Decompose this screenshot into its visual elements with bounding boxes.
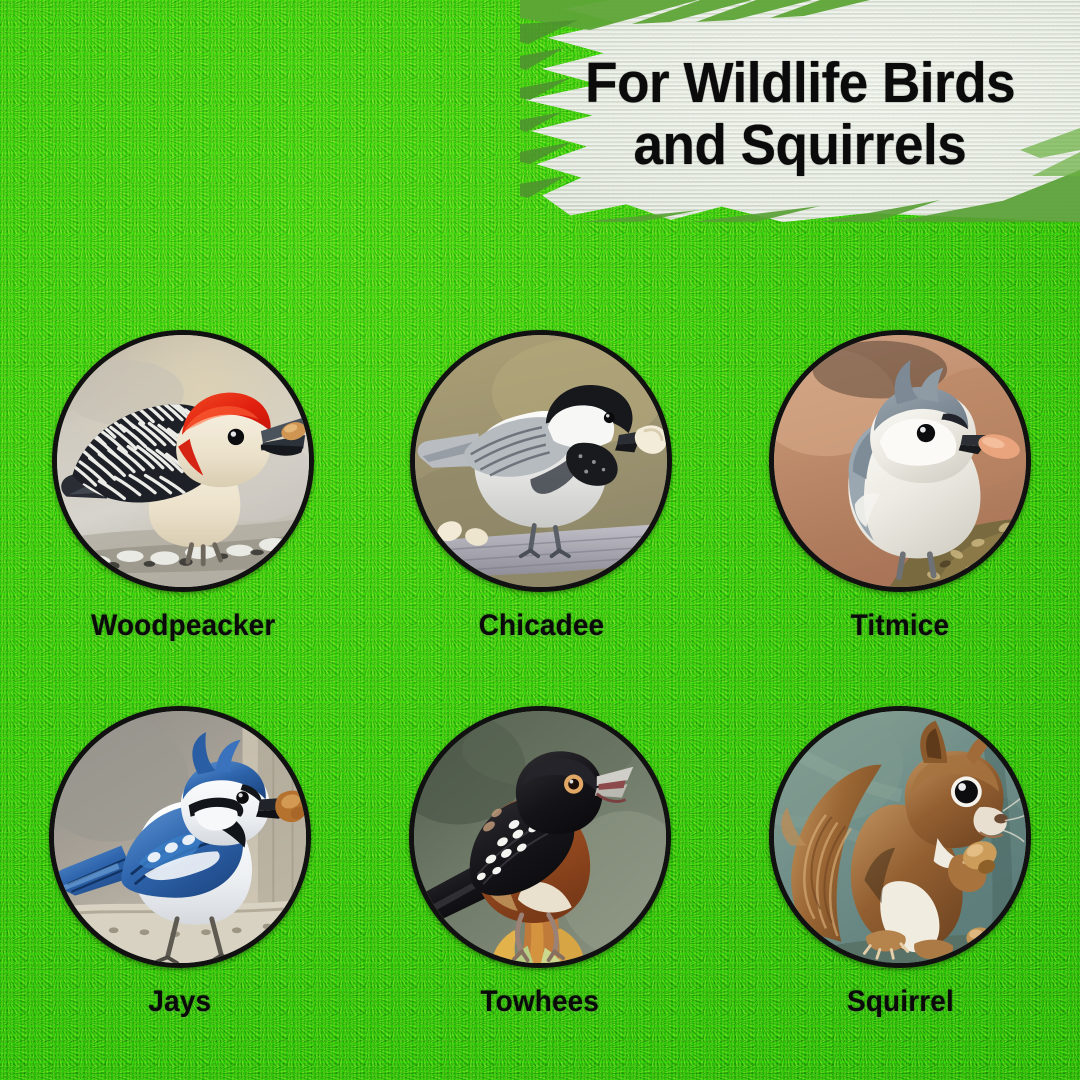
blue-jay-photo bbox=[54, 711, 306, 963]
animal-label-woodpeacker: Woodpeacker bbox=[91, 609, 275, 643]
animal-label-jays: Jays bbox=[149, 985, 212, 1019]
animal-cell-towhees: Towhees bbox=[360, 690, 720, 1050]
banner-title-line-1: For Wildlife Birds bbox=[585, 53, 1015, 113]
animal-label-towhees: Towhees bbox=[481, 985, 600, 1019]
black-capped-chickadee-photo bbox=[415, 335, 667, 587]
animal-label-chicadee: Chicadee bbox=[478, 609, 604, 643]
animal-cell-titmice: Titmice bbox=[720, 330, 1080, 690]
animal-grid: Woodpeacker bbox=[0, 330, 1080, 1050]
animal-cell-woodpeacker: Woodpeacker bbox=[0, 330, 360, 690]
banner-title-block: For Wildlife Birds and Squirrels bbox=[520, 0, 1080, 222]
animal-label-squirrel: Squirrel bbox=[847, 985, 954, 1019]
red-bellied-woodpecker-photo bbox=[57, 335, 309, 587]
poster-canvas: For Wildlife Birds and Squirrels bbox=[0, 0, 1080, 1080]
banner-title-line-2: and Squirrels bbox=[634, 115, 967, 175]
tufted-titmouse-photo bbox=[774, 335, 1026, 587]
red-squirrel-photo bbox=[774, 711, 1026, 963]
photo-circle-squirrel bbox=[769, 706, 1031, 968]
animal-cell-chicadee: Chicadee bbox=[360, 330, 720, 690]
spotted-towhee-photo bbox=[414, 711, 666, 963]
photo-circle-woodpeacker bbox=[52, 330, 314, 592]
photo-circle-titmice bbox=[769, 330, 1031, 592]
photo-circle-chicadee bbox=[410, 330, 672, 592]
animal-cell-jays: Jays bbox=[0, 690, 360, 1050]
photo-circle-jays bbox=[49, 706, 311, 968]
header-banner: For Wildlife Birds and Squirrels bbox=[520, 0, 1080, 222]
photo-circle-towhees bbox=[409, 706, 671, 968]
animal-label-titmice: Titmice bbox=[851, 609, 949, 643]
animal-cell-squirrel: Squirrel bbox=[720, 690, 1080, 1050]
